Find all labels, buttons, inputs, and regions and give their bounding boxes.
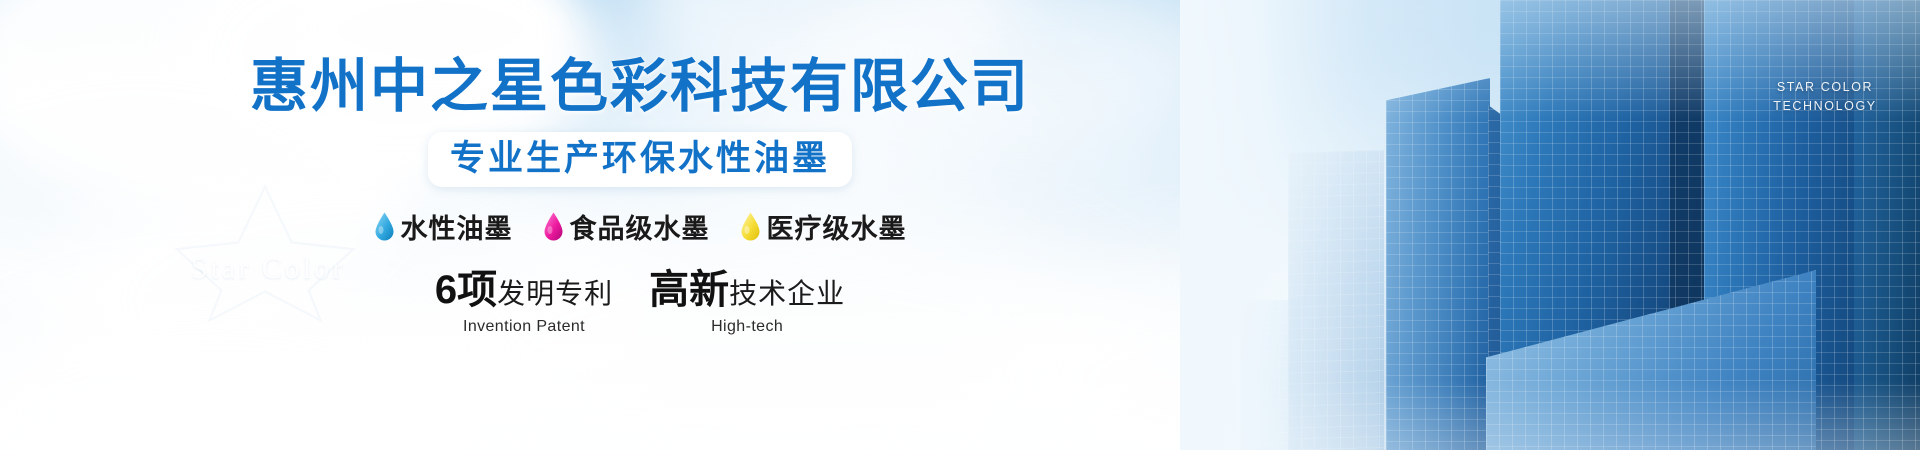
tagline-text: 专业生产环保水性油墨 — [450, 139, 830, 178]
badge-line: 6项 发明专利 — [435, 270, 613, 310]
badge-english-label: High-tech — [711, 318, 783, 336]
banner-content: 惠州中之星色彩科技有限公司 专业生产环保水性油墨 水性油墨 — [0, 0, 1280, 450]
badge-highlight: 高新 — [649, 270, 729, 310]
feature-label: 水性油墨 — [401, 207, 513, 246]
feature-label: 医疗级水墨 — [767, 207, 907, 246]
badge-label: 技术企业 — [729, 280, 845, 308]
water-drop-icon — [740, 212, 761, 242]
badge-english-label: Invention Patent — [463, 318, 585, 336]
badge-label: 发明专利 — [497, 280, 613, 308]
badge-highlight: 6项 — [435, 270, 497, 310]
credential-badges: 6项 发明专利 Invention Patent 高新 技术企业 High-te… — [435, 270, 845, 336]
water-drop-icon — [543, 212, 564, 242]
feature-label: 食品级水墨 — [570, 207, 710, 246]
badge-line: 高新 技术企业 — [649, 270, 845, 310]
feature-item: 水性油墨 — [374, 207, 513, 246]
badge-high-tech: 高新 技术企业 High-tech — [649, 270, 845, 336]
promotional-banner: Star Color STAR COLOR TECHNOLOGY 惠州中之星色彩… — [0, 0, 1920, 450]
feature-item: 医疗级水墨 — [740, 207, 907, 246]
feature-item: 食品级水墨 — [543, 207, 710, 246]
tagline-pill: 专业生产环保水性油墨 — [428, 132, 852, 187]
company-title: 惠州中之星色彩科技有限公司 — [250, 58, 1030, 116]
city-skyline-image: STAR COLOR TECHNOLOGY — [1180, 0, 1920, 450]
water-drop-icon — [374, 212, 395, 242]
badge-invention-patent: 6项 发明专利 Invention Patent — [435, 270, 613, 336]
feature-list: 水性油墨 食品级水墨 — [374, 207, 907, 246]
